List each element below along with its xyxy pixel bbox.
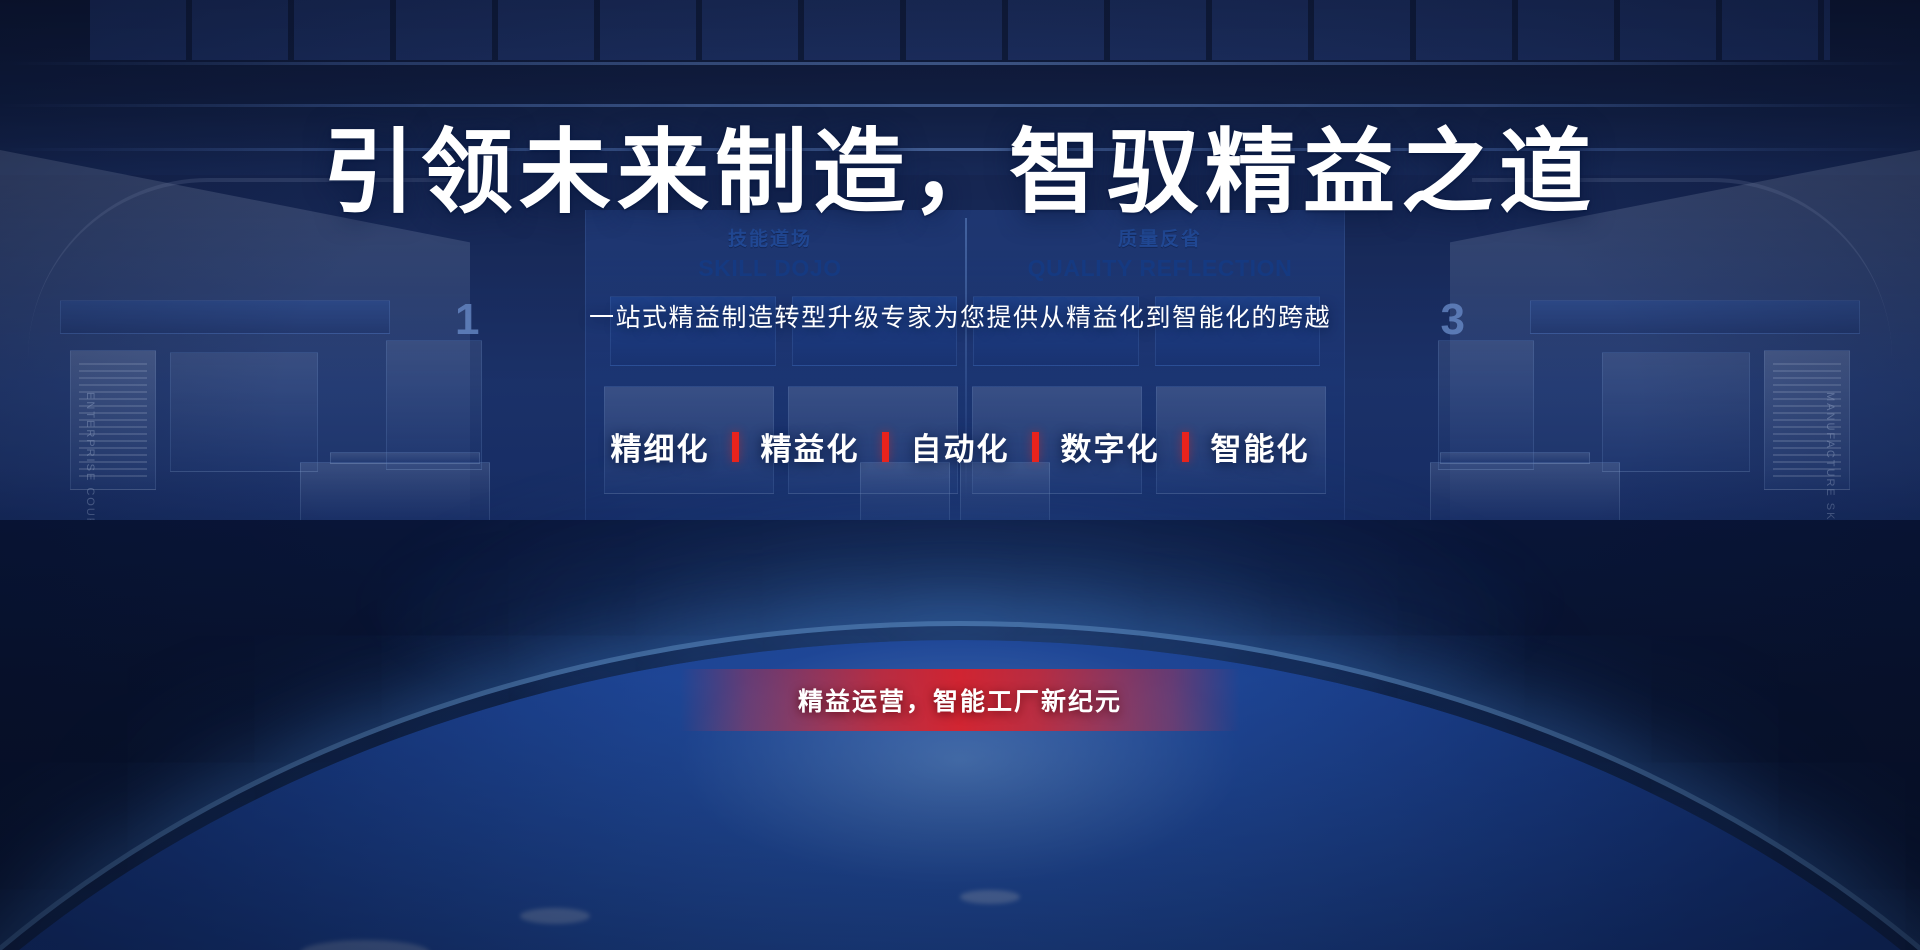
keyword-separator-icon xyxy=(1182,432,1189,462)
hero-keyword-3: 自动化 xyxy=(911,424,1010,469)
keyword-separator-icon xyxy=(882,432,889,462)
hero-subtitle: 一站式精益制造转型升级专家为您提供从精益化到智能化的跨越 xyxy=(0,298,1920,334)
hero-keyword-4: 数字化 xyxy=(1061,424,1160,469)
hero-headline: 引领未来制造，智驭精益之道 xyxy=(0,125,1920,223)
hero-keyword-1: 精细化 xyxy=(611,424,710,469)
keyword-separator-icon xyxy=(732,432,739,462)
hero-tagline-text: 精益运营，智能工厂新纪元 xyxy=(798,682,1122,718)
hero-tagline-ribbon: 精益运营，智能工厂新纪元 xyxy=(680,669,1240,731)
hero-keyword-2: 精益化 xyxy=(761,424,860,469)
hero-keyword-list: 精细化 精益化 自动化 数字化 智能化 xyxy=(0,424,1920,469)
hero-content: 引领未来制造，智驭精益之道 一站式精益制造转型升级专家为您提供从精益化到智能化的… xyxy=(0,0,1920,950)
hero-keyword-5: 智能化 xyxy=(1211,424,1310,469)
keyword-separator-icon xyxy=(1032,432,1039,462)
hero-banner: 1 ENTERPRISE COURSE 3 MANUFACTURE SKILL … xyxy=(0,0,1920,950)
